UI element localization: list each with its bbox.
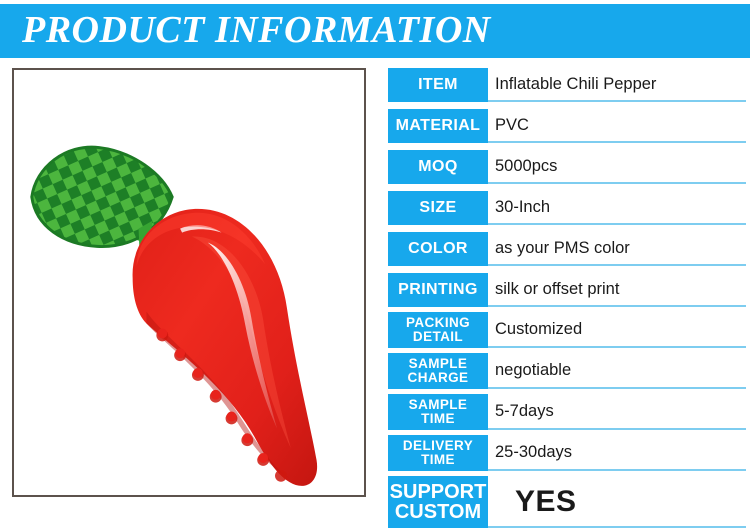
spec-value: 30-Inch <box>495 198 550 216</box>
spec-value: 5000pcs <box>495 157 557 175</box>
table-row: COLOR as your PMS color <box>388 232 746 266</box>
spec-value: negotiable <box>495 361 571 379</box>
header-banner: PRODUCT INFORMATION <box>0 4 750 58</box>
table-row: SAMPLE CHARGE negotiable <box>388 353 746 389</box>
spec-value-cell: 25-30days <box>488 435 746 471</box>
table-row: PRINTING silk or offset print <box>388 273 746 307</box>
spec-label-line2: CUSTOM <box>395 502 481 522</box>
spec-value: PVC <box>495 116 529 134</box>
page-title: PRODUCT INFORMATION <box>22 11 491 49</box>
spec-value-cell: 5000pcs <box>488 150 746 184</box>
spec-label: SIZE <box>388 191 488 225</box>
spec-label: PRINTING <box>388 273 488 307</box>
spec-label-line2: DETAIL <box>413 330 463 344</box>
spec-label: DELIVERY TIME <box>388 435 488 471</box>
spec-label-line1: SUPPORT <box>390 482 487 502</box>
spec-label: MOQ <box>388 150 488 184</box>
spec-value-cell: Customized <box>488 312 746 348</box>
spec-value-cell: Inflatable Chili Pepper <box>488 68 746 102</box>
spec-label: PACKING DETAIL <box>388 312 488 348</box>
table-row: SAMPLE TIME 5-7days <box>388 394 746 430</box>
spec-value: Inflatable Chili Pepper <box>495 75 656 93</box>
spec-value-cell: negotiable <box>488 353 746 389</box>
spec-label-line1: PACKING <box>406 316 470 330</box>
spec-label-line2: TIME <box>421 412 455 426</box>
table-row: MATERIAL PVC <box>388 109 746 143</box>
table-row: MOQ 5000pcs <box>388 150 746 184</box>
spec-value: 25-30days <box>495 443 572 461</box>
spec-label: SAMPLE CHARGE <box>388 353 488 389</box>
spec-value-cell: as your PMS color <box>488 232 746 266</box>
spec-label: ITEM <box>388 68 488 102</box>
table-row: PACKING DETAIL Customized <box>388 312 746 348</box>
spec-label: MATERIAL <box>388 109 488 143</box>
table-row: SIZE 30-Inch <box>388 191 746 225</box>
spec-label-line1: SAMPLE <box>409 398 468 412</box>
spec-label-line1: MATERIAL <box>396 118 481 135</box>
spec-label-line1: COLOR <box>408 241 468 258</box>
spec-value: as your PMS color <box>495 239 630 257</box>
spec-label-line2: CHARGE <box>408 371 469 385</box>
spec-label-line1: PRINTING <box>398 282 478 299</box>
spec-value: Customized <box>495 320 582 338</box>
table-row: ITEM Inflatable Chili Pepper <box>388 68 746 102</box>
spec-label-line1: ITEM <box>418 77 458 94</box>
spec-value: 5-7days <box>495 402 554 420</box>
spec-label: COLOR <box>388 232 488 266</box>
spec-label-line1: SIZE <box>419 200 456 217</box>
table-row: SUPPORT CUSTOM YES <box>388 476 746 528</box>
spec-label-line1: SAMPLE <box>409 357 468 371</box>
spec-value-cell: PVC <box>488 109 746 143</box>
spec-value-cell: YES <box>488 476 746 528</box>
spec-value: YES <box>495 485 577 518</box>
spec-label-line2: TIME <box>421 453 455 467</box>
spec-label: SUPPORT CUSTOM <box>388 476 488 528</box>
product-image-panel <box>12 68 366 497</box>
spec-value: silk or offset print <box>495 280 619 298</box>
product-photo-chili-pepper <box>14 70 364 495</box>
spec-value-cell: 30-Inch <box>488 191 746 225</box>
spec-label-line1: DELIVERY <box>403 439 473 453</box>
spec-value-cell: silk or offset print <box>488 273 746 307</box>
table-row: DELIVERY TIME 25-30days <box>388 435 746 471</box>
spec-value-cell: 5-7days <box>488 394 746 430</box>
product-information-page: PRODUCT INFORMATION <box>0 0 750 512</box>
spec-table: ITEM Inflatable Chili Pepper MATERIAL PV… <box>388 68 746 500</box>
spec-label: SAMPLE TIME <box>388 394 488 430</box>
spec-label-line1: MOQ <box>418 159 457 176</box>
